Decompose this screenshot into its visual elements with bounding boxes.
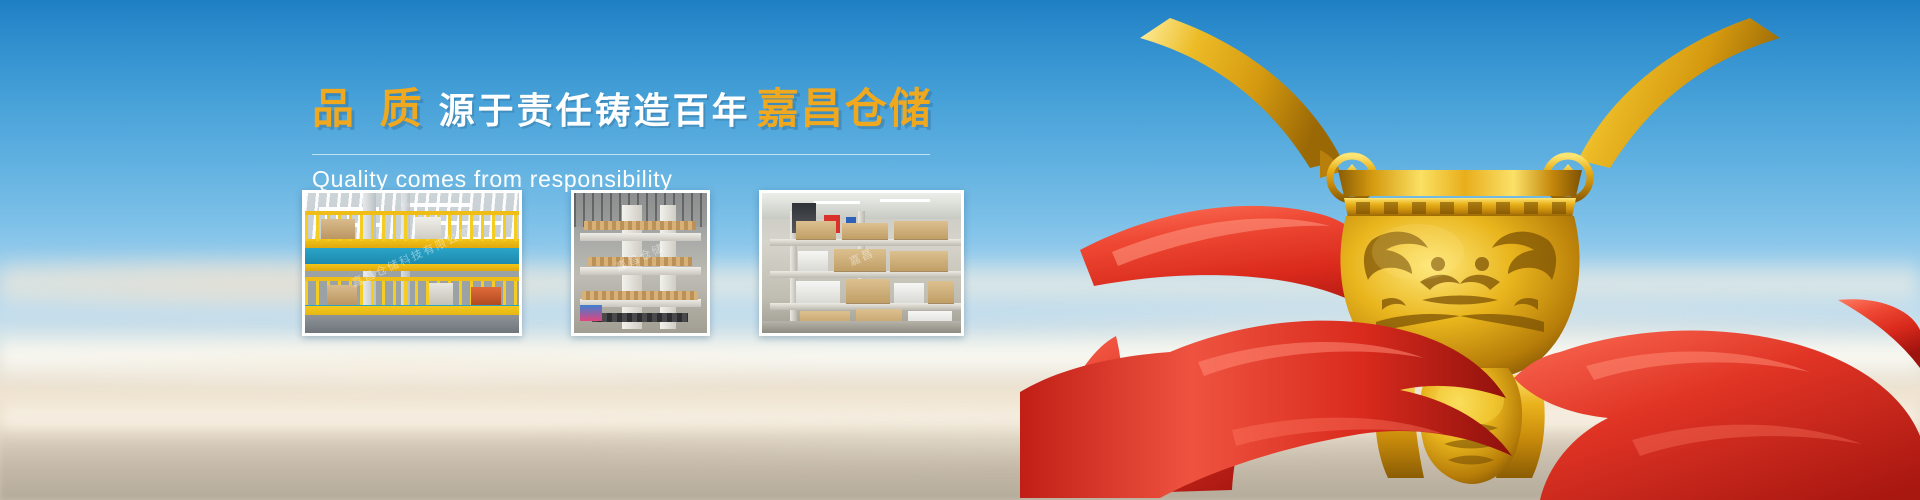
photo-gallery: 嘉昌仓储科技有限公司 嘉昌仓储: [302, 190, 964, 336]
golden-ding-vessel: [1140, 18, 1342, 168]
golden-ding-vessel: [1578, 18, 1780, 168]
headline-divider: [312, 154, 930, 155]
headline-emphasis: 品 质: [312, 88, 429, 130]
golden-ding-vessel: [1338, 170, 1582, 196]
ding-and-ribbon-artwork: [1020, 0, 1920, 500]
cantilever-racking-photo[interactable]: 嘉昌仓储: [571, 190, 710, 336]
headline-brand: 嘉昌仓储: [757, 88, 933, 130]
headline: 品 质 源于责任铸造百年 嘉昌仓储: [312, 88, 952, 140]
mezzanine-racking-photo[interactable]: 嘉昌仓储科技有限公司: [302, 190, 522, 336]
cloud-streak: [0, 345, 860, 391]
subheadline: Quality comes from responsibility: [312, 166, 952, 193]
carton-shelving-photo[interactable]: 嘉昌: [759, 190, 964, 336]
headline-block: 品 质 源于责任铸造百年 嘉昌仓储 Quality comes from res…: [312, 88, 952, 193]
red-silk-ribbon: [1838, 299, 1920, 368]
promotional-banner: 品 质 源于责任铸造百年 嘉昌仓储 Quality comes from res…: [0, 0, 1920, 500]
headline-middle: 源于责任铸造百年: [439, 93, 751, 129]
